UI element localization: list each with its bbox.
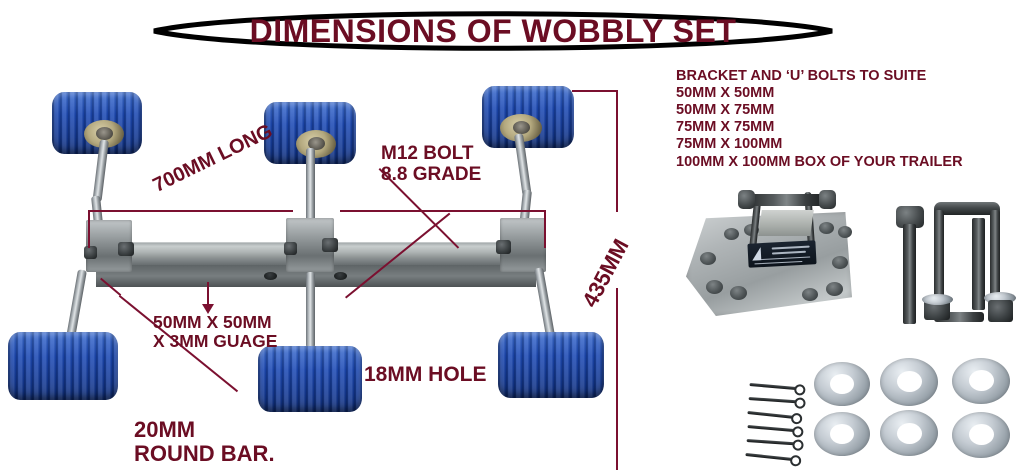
flat-washer bbox=[952, 412, 1010, 458]
dimension-tick-700mm-right bbox=[544, 210, 546, 248]
annotation-beam-size: 50MM X 50MM X 3MM GUAGE bbox=[153, 313, 277, 351]
sticker-text-line bbox=[772, 251, 806, 254]
bolt-shaft bbox=[972, 218, 985, 310]
spec-size-1: 50MM X 50MM bbox=[676, 85, 963, 102]
plate-hole bbox=[826, 282, 843, 296]
product-dimension-diagram: DIMENSIONS OF WOBBLY SET bbox=[0, 0, 1024, 471]
flat-washer bbox=[952, 358, 1010, 404]
annotation-round-bar: 20MM ROUND BAR. bbox=[134, 418, 275, 466]
beam-hole bbox=[264, 272, 277, 280]
split-pin-body bbox=[749, 383, 797, 390]
bolt-nut bbox=[988, 300, 1013, 322]
sticker-text-line bbox=[754, 260, 802, 264]
bracket-nut bbox=[84, 246, 97, 259]
roller-arm-bottom-middle bbox=[306, 272, 315, 348]
split-pin-body bbox=[745, 453, 793, 461]
washer-hole bbox=[830, 374, 854, 394]
plate-hole bbox=[706, 280, 723, 294]
spec-size-2: 50MM X 75MM bbox=[676, 102, 963, 119]
roller-arm-bottom-left bbox=[66, 269, 87, 339]
split-pin-body bbox=[747, 411, 794, 419]
flat-washer bbox=[814, 362, 870, 406]
plate-hole bbox=[819, 222, 834, 234]
flat-washer bbox=[880, 410, 938, 456]
roller-arm-bottom-right bbox=[534, 267, 555, 339]
title-banner: DIMENSIONS OF WOBBLY SET bbox=[148, 6, 838, 56]
plate-hole bbox=[802, 288, 818, 301]
roller-assembly-photo bbox=[0, 60, 620, 471]
spec-size-5: 100MM X 100MM BOX OF YOUR TRAILER bbox=[676, 154, 963, 171]
split-pin-body bbox=[749, 397, 798, 403]
split-pin-eye-icon bbox=[794, 397, 806, 409]
split-pin-eye-icon bbox=[790, 455, 802, 467]
plate-hole bbox=[838, 226, 852, 238]
flat-washer bbox=[814, 412, 870, 456]
plate-weld-pad bbox=[758, 210, 814, 236]
roller-hub-center bbox=[96, 127, 113, 140]
manufacturer-sticker bbox=[747, 240, 816, 268]
roller-hub-center bbox=[513, 121, 530, 134]
washer-hole bbox=[830, 424, 854, 444]
split-pin-eye-icon bbox=[792, 426, 804, 438]
bracket-nut bbox=[118, 242, 134, 256]
bracket-nut bbox=[496, 240, 511, 254]
spec-size-4: 75MM X 100MM bbox=[676, 136, 963, 153]
plate-bolt-head-left bbox=[738, 190, 755, 209]
plate-hole bbox=[700, 252, 716, 265]
dimension-line-435mm-upper bbox=[616, 90, 618, 212]
split-pin-body bbox=[747, 425, 795, 432]
bracket-nut bbox=[322, 238, 338, 252]
annotation-18mm-hole: 18MM HOLE bbox=[364, 364, 487, 387]
bracket-plate-photo bbox=[680, 186, 860, 322]
ubolt-and-bolts-photo bbox=[884, 184, 1020, 336]
split-pin-eye-icon bbox=[791, 413, 803, 425]
dimension-line-700mm-left bbox=[88, 210, 293, 212]
plate-hole bbox=[832, 256, 848, 269]
dimension-line-700mm-right bbox=[340, 210, 546, 212]
washers-group bbox=[812, 358, 1024, 470]
bracket-nut bbox=[284, 242, 297, 255]
dimension-tick-435mm-top bbox=[572, 90, 618, 92]
beam-hole bbox=[334, 272, 347, 280]
roller-bottom-middle bbox=[258, 346, 362, 412]
split-pins-group bbox=[746, 378, 812, 462]
annotation-m12-bolt: M12 BOLT 8.8 GRADE bbox=[381, 144, 481, 185]
washer-hole bbox=[969, 370, 994, 391]
flat-washer bbox=[880, 358, 938, 406]
washer-hole bbox=[969, 424, 994, 445]
plate-hole bbox=[730, 286, 747, 300]
plate-hole bbox=[724, 228, 739, 240]
split-pin-eye-icon bbox=[792, 439, 804, 451]
bolt-shaft bbox=[903, 224, 916, 324]
split-pin-eye-icon bbox=[794, 384, 806, 396]
sticker-text-line bbox=[772, 246, 810, 250]
plate-bolt-head-right bbox=[819, 190, 836, 209]
bolt-washer bbox=[922, 294, 953, 305]
roller-bottom-right bbox=[498, 332, 604, 398]
bracket-spec-list: BRACKET AND ‘U’ BOLTS TO SUITE 50MM X 50… bbox=[676, 68, 963, 171]
dimension-line-435mm-lower bbox=[616, 288, 618, 470]
plate-bolt-shaft bbox=[746, 194, 824, 206]
page-title: DIMENSIONS OF WOBBLY SET bbox=[148, 6, 838, 56]
washer-hole bbox=[897, 371, 922, 392]
split-pin-body bbox=[747, 439, 796, 445]
washer-hole bbox=[897, 423, 922, 444]
spec-heading: BRACKET AND ‘U’ BOLTS TO SUITE bbox=[676, 68, 963, 85]
spec-size-3: 75MM X 75MM bbox=[676, 119, 963, 136]
dimension-tick-700mm-left bbox=[88, 210, 90, 248]
roller-bottom-left bbox=[8, 332, 118, 400]
